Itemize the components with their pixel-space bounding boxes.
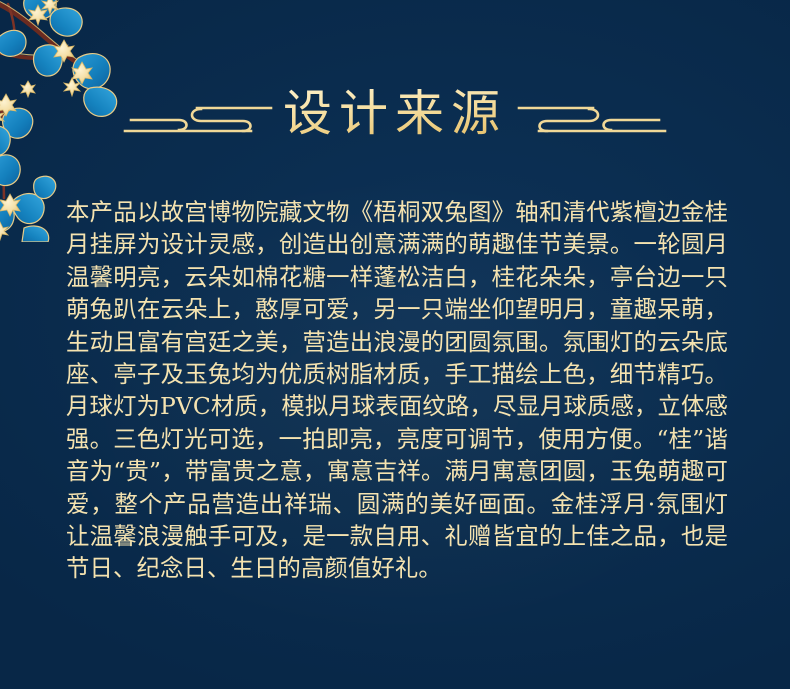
- design-source-description: 本产品以故宫博物院藏文物《梧桐双兔图》轴和清代紫檀边金桂月挂屏为设计灵感，创造出…: [66, 196, 728, 585]
- description-paragraph: 本产品以故宫博物院藏文物《梧桐双兔图》轴和清代紫檀边金桂月挂屏为设计灵感，创造出…: [66, 196, 728, 585]
- branch-stem-highlights: [0, 0, 90, 67]
- page-title: 设计来源: [275, 89, 515, 144]
- cloud-scroll-ornament-left: [123, 91, 275, 141]
- accent-leaf: [34, 176, 56, 198]
- design-source-poster: 设计来源 本产品以故宫博物院藏文物《梧桐双兔图》轴和清代紫檀边金桂月挂屏为设计灵…: [0, 0, 790, 689]
- cloud-scroll-ornament-right: [515, 91, 667, 141]
- page-title-block: 设计来源: [0, 78, 790, 154]
